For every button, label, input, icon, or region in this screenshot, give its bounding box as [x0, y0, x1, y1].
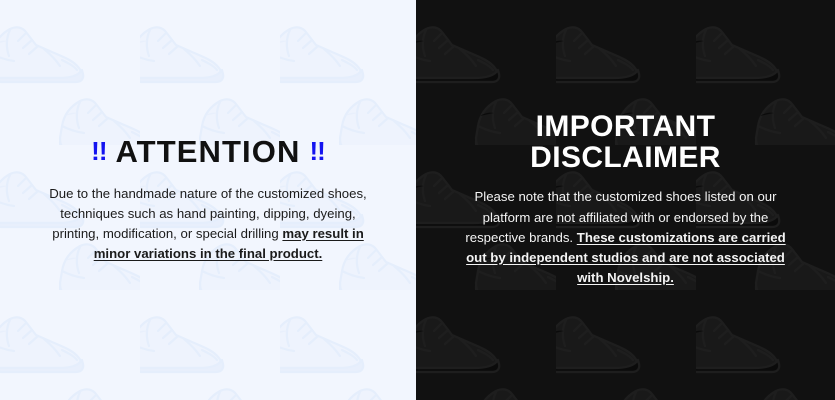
- exclamation-right-icon: !!: [309, 136, 324, 166]
- disclaimer-banner: !!ATTENTION!! Due to the handmade nature…: [0, 0, 835, 400]
- disclaimer-content: IMPORTANT DISCLAIMER Please note that th…: [416, 112, 835, 288]
- attention-body: Due to the handmade nature of the custom…: [48, 184, 368, 264]
- disclaimer-panel: IMPORTANT DISCLAIMER Please note that th…: [416, 0, 835, 400]
- attention-panel: !!ATTENTION!! Due to the handmade nature…: [0, 0, 416, 400]
- disclaimer-body: Please note that the customized shoes li…: [465, 187, 787, 287]
- disclaimer-heading-line-2: DISCLAIMER: [438, 143, 813, 174]
- disclaimer-heading: IMPORTANT DISCLAIMER: [438, 112, 813, 173]
- attention-heading: !!ATTENTION!!: [22, 136, 394, 169]
- disclaimer-heading-line-1: IMPORTANT: [438, 112, 813, 143]
- attention-heading-label: ATTENTION: [116, 134, 301, 169]
- attention-content: !!ATTENTION!! Due to the handmade nature…: [0, 136, 416, 264]
- exclamation-left-icon: !!: [91, 136, 106, 166]
